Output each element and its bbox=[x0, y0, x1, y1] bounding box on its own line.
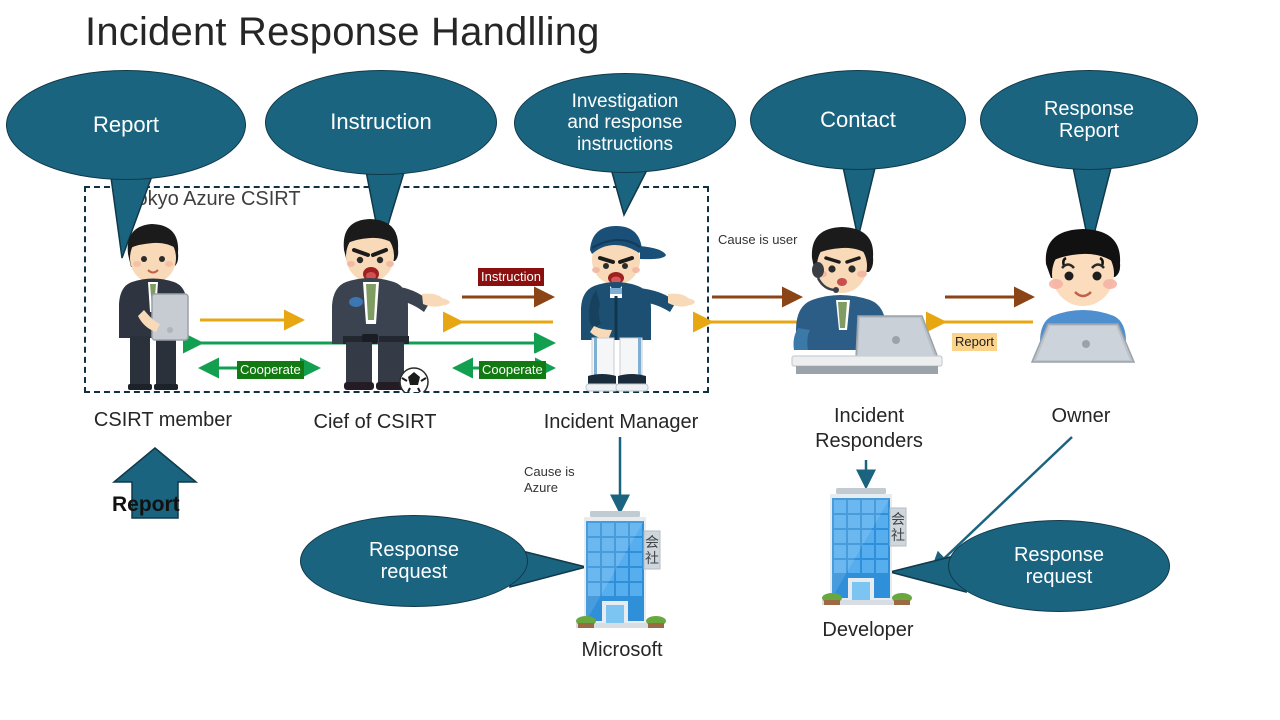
arrow-tag-cooperate-right: Cooperate bbox=[479, 361, 546, 379]
page-title: Incident Response Handlling bbox=[85, 10, 600, 55]
callout-instruction-label: Instruction bbox=[320, 110, 442, 135]
role-label-developer: Developer bbox=[768, 618, 968, 643]
office-building-icon: 会 社 bbox=[814, 482, 922, 612]
callout-contact[interactable]: Contact bbox=[750, 70, 966, 170]
building-sign-line1: 会 bbox=[891, 512, 905, 528]
callout-report[interactable]: Report bbox=[6, 70, 246, 180]
role-label-incident-responders: Incident Responders bbox=[776, 404, 962, 454]
building-sign-line2: 社 bbox=[645, 551, 659, 567]
role-label-incident-manager: Incident Manager bbox=[515, 410, 727, 435]
callout-investigation-label: Investigation and response instructions bbox=[557, 91, 692, 155]
arrow-tag-report: Report bbox=[952, 333, 997, 351]
callout-investigation[interactable]: Investigation and response instructions bbox=[514, 73, 736, 173]
callout-response-report[interactable]: Response Report bbox=[980, 70, 1198, 170]
callout-response-report-label: Response Report bbox=[1034, 98, 1144, 143]
shouting-manager-pointing-icon bbox=[322, 216, 454, 392]
incident-responders-figure bbox=[786, 224, 948, 376]
note-cause-is-azure: Cause is Azure bbox=[524, 464, 575, 497]
building-sign-line2: 社 bbox=[891, 528, 905, 544]
developer-building-figure: 会 社 bbox=[814, 482, 922, 612]
coach-pointing-icon bbox=[570, 216, 696, 392]
role-label-owner: Owner bbox=[995, 404, 1167, 429]
diagram-canvas: Incident Response Handlling UTokyo Azure… bbox=[0, 0, 1280, 720]
microsoft-building-figure: 会 社 bbox=[568, 505, 676, 635]
csirt-member-figure bbox=[108, 218, 198, 390]
callout-instruction[interactable]: Instruction bbox=[265, 70, 497, 175]
headset-support-agent-icon bbox=[786, 224, 948, 376]
callout-response-request-right-label: Response request bbox=[1004, 544, 1114, 589]
building-sign-line1: 会 bbox=[645, 535, 659, 551]
person-with-tablet-icon bbox=[108, 218, 198, 390]
report-arrow-label: Report bbox=[112, 493, 180, 517]
arrow-tag-cooperate-left: Cooperate bbox=[237, 361, 304, 379]
office-building-icon: 会 社 bbox=[568, 505, 676, 635]
person-at-laptop-icon bbox=[1028, 224, 1138, 372]
callout-response-request-left-label: Response request bbox=[359, 539, 469, 584]
callout-response-request-right[interactable]: Response request bbox=[948, 520, 1170, 612]
callout-contact-label: Contact bbox=[810, 108, 906, 133]
arrow-tag-instruction: Instruction bbox=[478, 268, 544, 286]
incident-manager-figure bbox=[570, 216, 696, 392]
owner-figure bbox=[1028, 224, 1138, 372]
callout-response-request-left[interactable]: Response request bbox=[300, 515, 528, 607]
role-label-csirt-member: CSIRT member bbox=[48, 408, 278, 433]
cief-of-csirt-figure bbox=[322, 216, 454, 392]
role-label-cief-of-csirt: Cief of CSIRT bbox=[280, 410, 470, 435]
role-label-microsoft: Microsoft bbox=[520, 638, 724, 663]
note-cause-is-user: Cause is user bbox=[718, 232, 797, 248]
callout-report-label: Report bbox=[83, 113, 169, 138]
